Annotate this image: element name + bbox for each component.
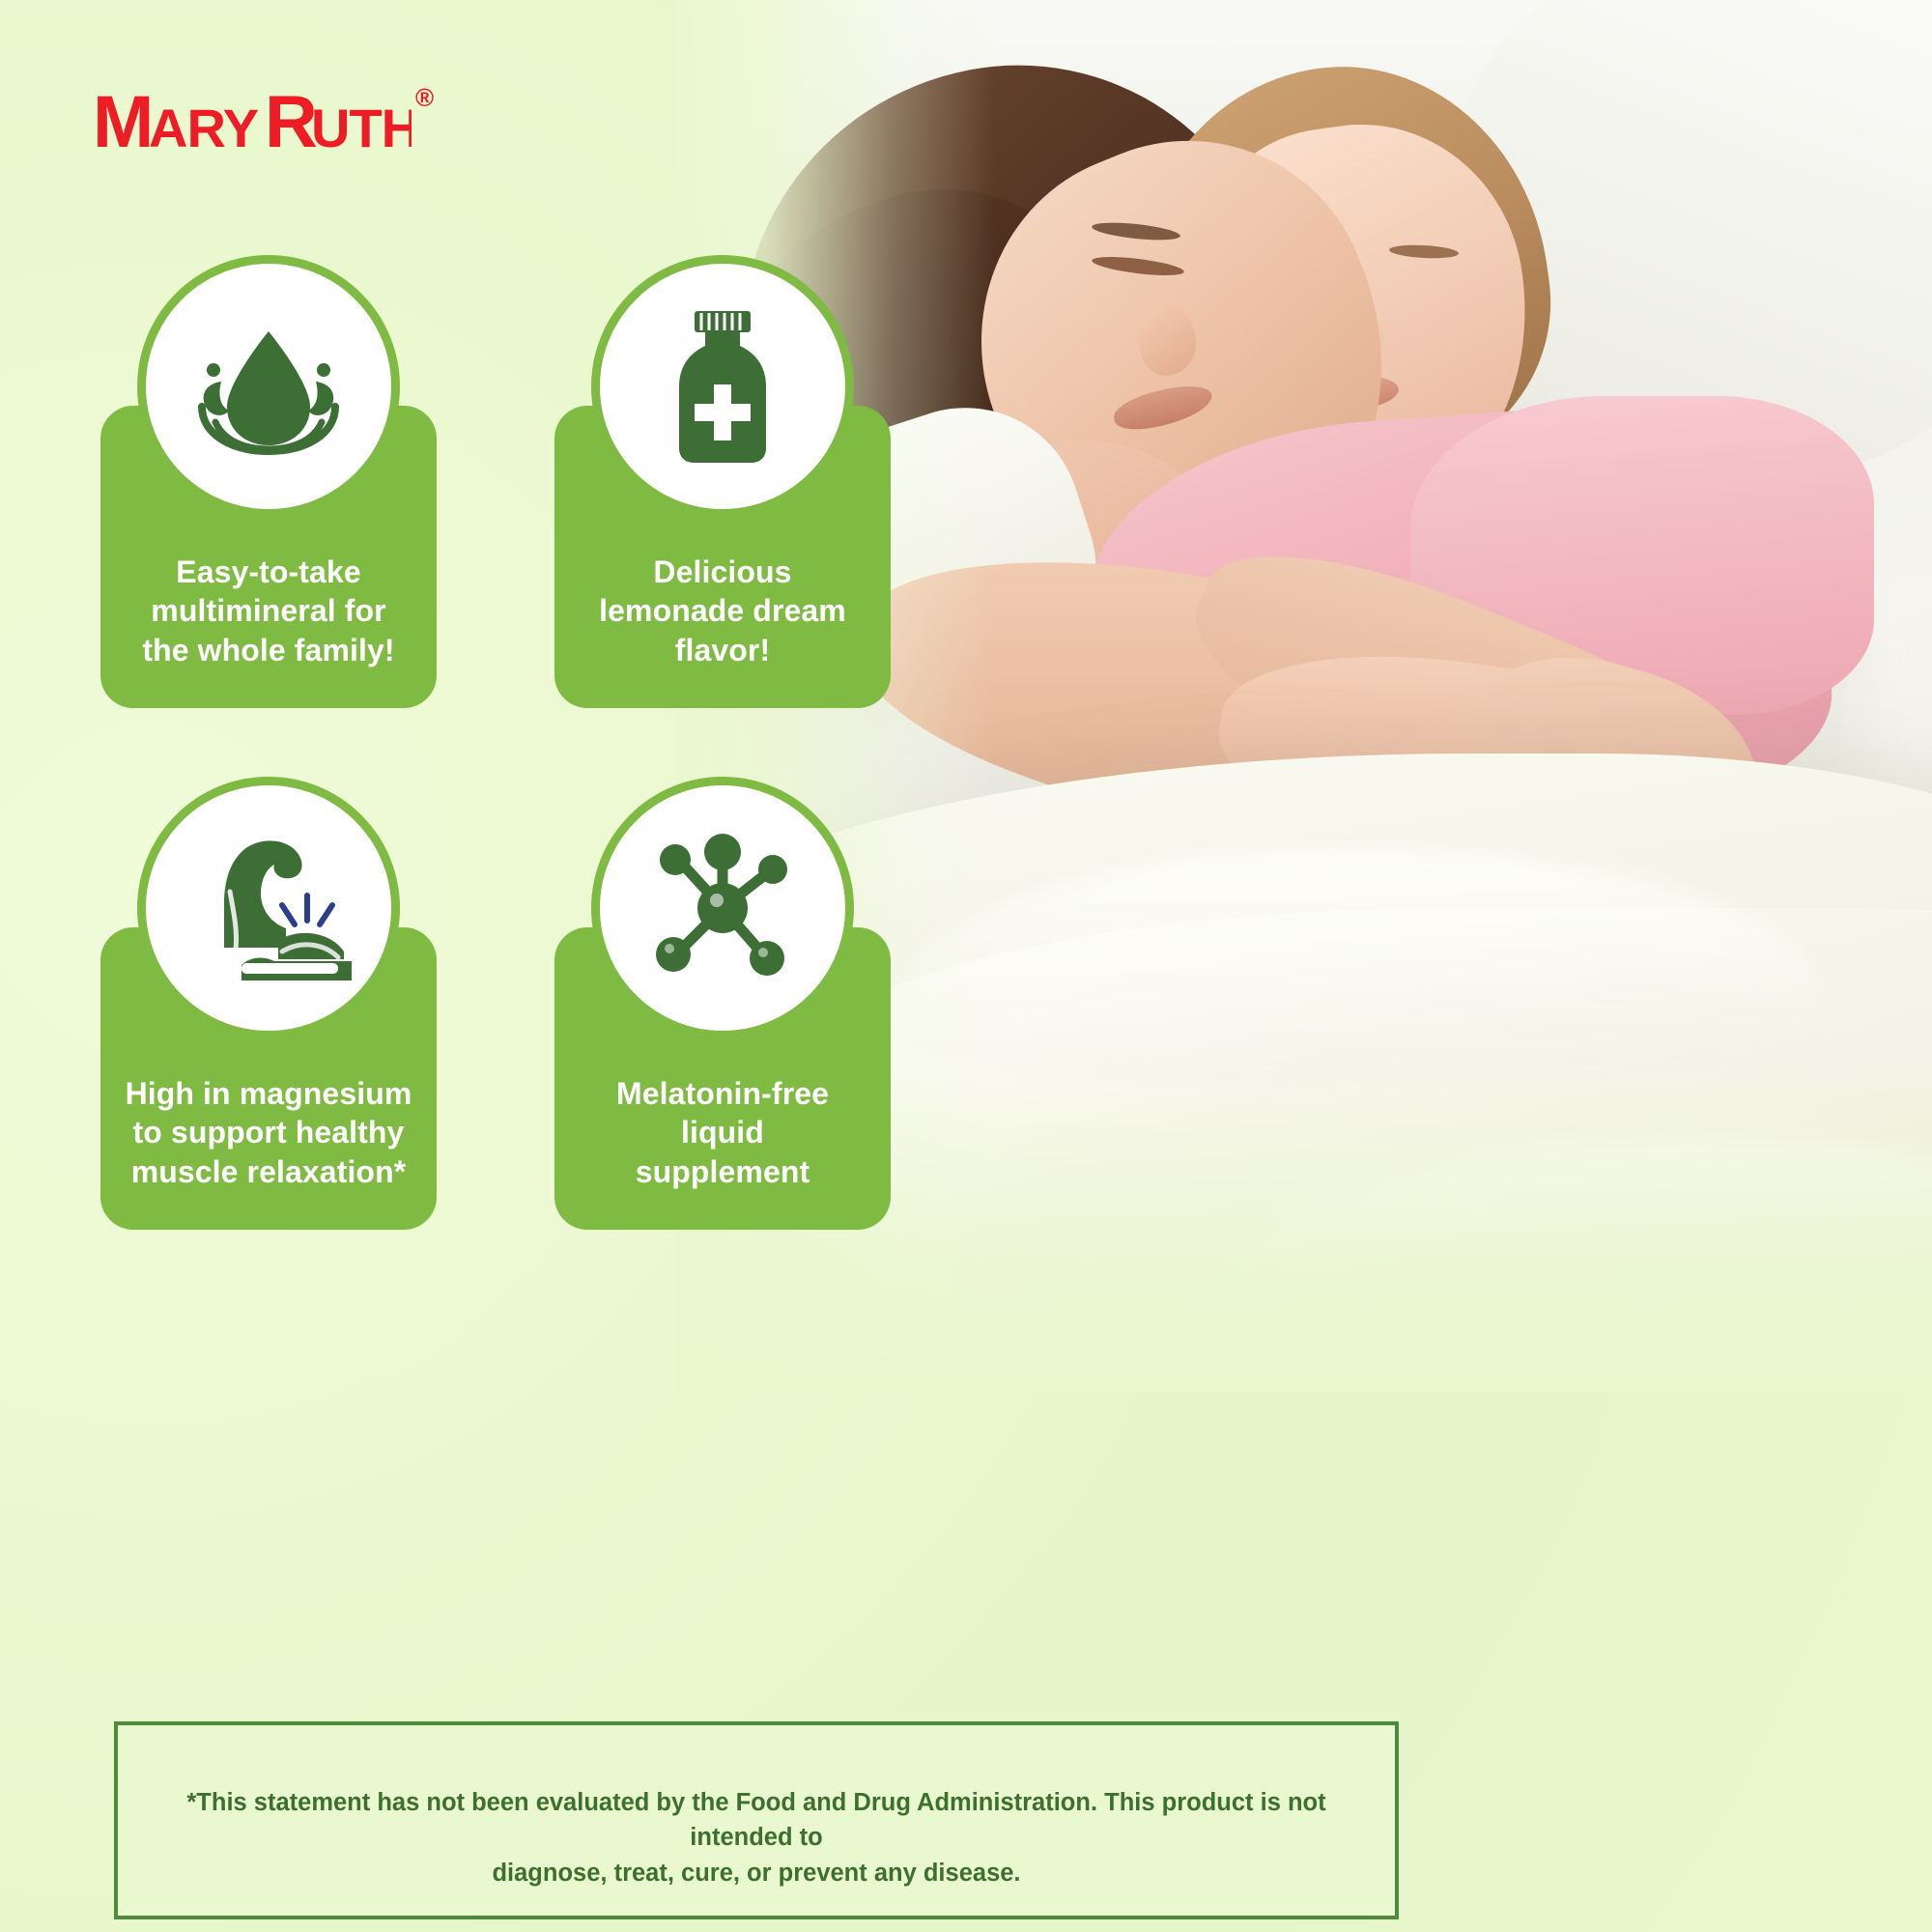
svg-text:UTH'S: UTH'S bbox=[311, 98, 412, 158]
maryruths-logo[interactable]: M ARY R UTH'S ® bbox=[93, 77, 434, 166]
maryruths-wordmark-icon: M ARY R UTH'S bbox=[93, 77, 412, 166]
registered-trademark-symbol: ® bbox=[415, 83, 434, 113]
benefit-card-easy-to-take[interactable]: Easy-to-take multimineral for the whole … bbox=[100, 406, 437, 708]
fda-disclaimer-box: *This statement has not been evaluated b… bbox=[114, 1721, 1399, 1919]
benefit-card-high-in-magnesium[interactable]: High in magnesium to support healthy mus… bbox=[100, 927, 437, 1230]
benefit-icon-bubble-1 bbox=[137, 255, 400, 518]
supplement-bottle-icon bbox=[650, 307, 795, 467]
poster-canvas: M ARY R UTH'S ® Easy-to-take multimin bbox=[0, 0, 1932, 1932]
fda-disclaimer-text: *This statement has not been evaluated b… bbox=[186, 1789, 1325, 1886]
svg-text:R: R bbox=[265, 81, 317, 163]
benefit-card-delicious-flavor[interactable]: Delicious lemonade dream flavor! bbox=[554, 406, 891, 708]
svg-text:M: M bbox=[93, 81, 152, 163]
benefit-icon-bubble-2 bbox=[591, 255, 854, 518]
svg-text:ARY: ARY bbox=[149, 98, 259, 158]
molecule-icon bbox=[643, 831, 803, 985]
benefit-card-melatonin-free[interactable]: Melatonin-free liquid supplement bbox=[554, 927, 891, 1230]
flexed-bicep-icon bbox=[182, 834, 355, 983]
water-droplet-splash-icon bbox=[186, 314, 351, 459]
benefit-icon-bubble-4 bbox=[591, 777, 854, 1039]
benefit-icon-bubble-3 bbox=[137, 777, 400, 1039]
